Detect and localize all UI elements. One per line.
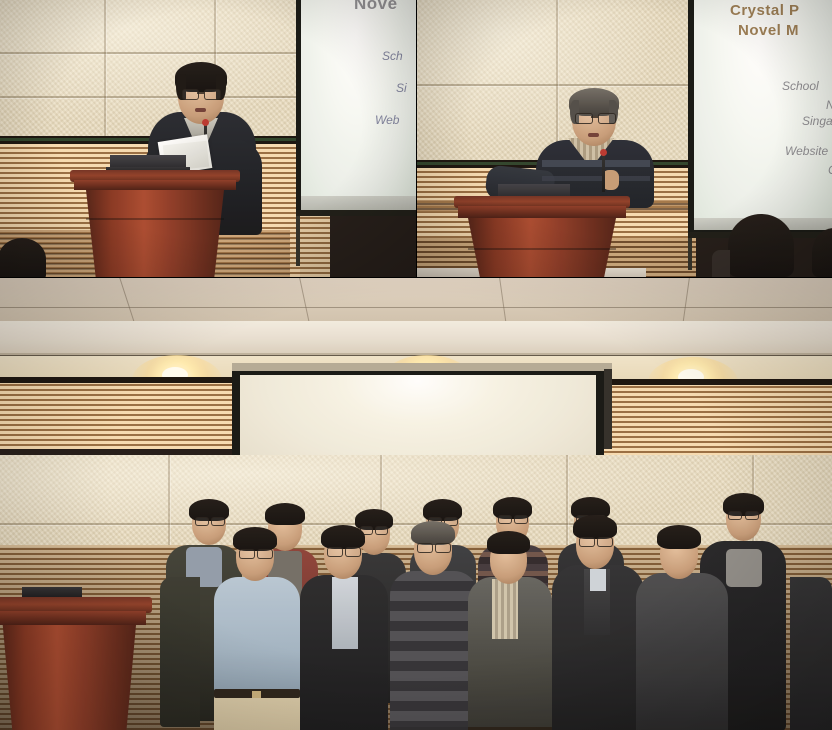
slide-right-body-line2: N	[694, 98, 832, 112]
speaker-glasses-right	[204, 89, 221, 100]
glasses-front-1	[239, 549, 255, 559]
slide-right-body-line3: Singa	[694, 114, 832, 128]
panel-divider-horizontal	[0, 277, 832, 278]
glasses-front-5	[579, 537, 595, 547]
audience-head-left	[0, 238, 46, 277]
slide-left-title-line1: Nove	[300, 0, 416, 14]
slide-left-body-line3: Web	[300, 113, 416, 127]
panel-divider-vertical	[416, 0, 417, 277]
slide-right-body-line5: C	[694, 163, 832, 177]
photo-collage: Nove Sch Si Web	[0, 0, 832, 730]
slide-right-title-line2: Novel M	[694, 22, 832, 39]
slide-left-body-line1: Sch	[300, 49, 416, 63]
photo-panel-top-left: Nove Sch Si Web	[0, 0, 416, 277]
photo-panel-bottom-group	[0, 277, 832, 730]
audience-head-1	[728, 214, 794, 277]
speaker-glasses-right-2	[598, 113, 616, 124]
glasses-back-1	[195, 517, 209, 526]
glasses-front-2	[327, 547, 343, 557]
microphone-right	[602, 152, 605, 192]
glasses-front-3	[417, 543, 433, 553]
slide-right-body-line4: Website	[694, 144, 832, 158]
speaker-glasses-left-2	[575, 113, 593, 124]
glasses-back-7	[728, 511, 742, 520]
ceiling	[0, 277, 832, 323]
glasses-back-5	[498, 515, 512, 524]
speaker-glasses-left	[182, 89, 199, 100]
slide-right-title-line1: Crystal P	[694, 2, 832, 19]
slide-left-body-line2: Si	[300, 81, 416, 95]
slide-right-body-line1: School	[694, 79, 832, 93]
photo-panel-top-right: Crystal P Novel M School N Singa Website…	[416, 0, 832, 277]
